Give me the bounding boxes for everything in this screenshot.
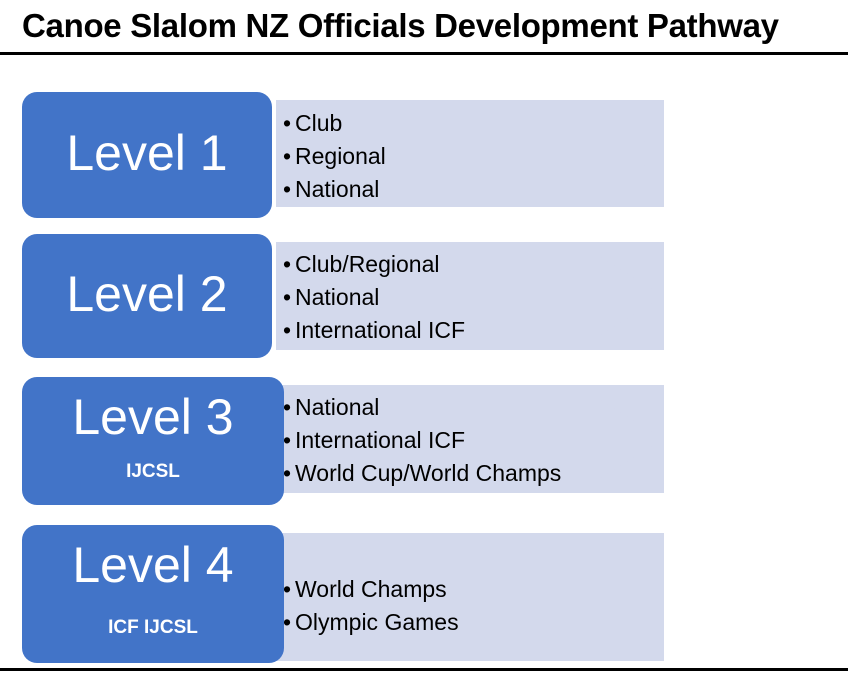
list-item: •International ICF — [283, 424, 561, 457]
list-item: •National — [283, 391, 561, 424]
bullet-icon: • — [283, 107, 295, 140]
bullet-label: International ICF — [295, 427, 465, 453]
bullet-label: Olympic Games — [295, 609, 459, 635]
list-item: •International ICF — [283, 314, 465, 347]
bullet-label: Club — [295, 110, 342, 136]
bullet-icon: • — [283, 424, 295, 457]
bullet-list-1: •Club •Regional •National — [283, 107, 386, 206]
arrow-head-2 — [598, 242, 664, 350]
arrow-head-3 — [598, 385, 664, 493]
list-item: •National — [283, 173, 386, 206]
title-bar: Canoe Slalom NZ Officials Development Pa… — [0, 0, 848, 55]
level-box-1-label: Level 1 — [22, 125, 272, 181]
level-box-3[interactable]: Level 3 IJCSL — [22, 377, 284, 505]
bottom-rule — [0, 668, 848, 671]
level-box-2-label: Level 2 — [22, 266, 272, 322]
bullet-icon: • — [283, 248, 295, 281]
bullet-label: National — [295, 284, 379, 310]
level-box-4-subtitle: ICF IJCSL — [22, 617, 284, 639]
bullet-icon: • — [283, 573, 295, 606]
arrow-head-1 — [598, 100, 664, 207]
bullet-label: International ICF — [295, 317, 465, 343]
level-box-4-label: Level 4 — [22, 537, 284, 593]
bullet-label: National — [295, 394, 379, 420]
bullet-label: Regional — [295, 143, 386, 169]
arrow-head-4 — [598, 533, 664, 661]
list-item: •Olympic Games — [283, 606, 459, 639]
level-box-4[interactable]: Level 4 ICF IJCSL — [22, 525, 284, 663]
bullet-icon: • — [283, 457, 295, 490]
list-item: •Club/Regional — [283, 248, 465, 281]
level-box-3-label: Level 3 — [22, 389, 284, 445]
page-title: Canoe Slalom NZ Officials Development Pa… — [22, 4, 832, 48]
list-item: •Regional — [283, 140, 386, 173]
level-box-1[interactable]: Level 1 — [22, 92, 272, 218]
bullet-label: World Cup/World Champs — [295, 460, 561, 486]
bullet-list-2: •Club/Regional •National •International … — [283, 248, 465, 347]
bullet-icon: • — [283, 314, 295, 347]
bullet-icon: • — [283, 391, 295, 424]
list-item: •World Cup/World Champs — [283, 457, 561, 490]
level-box-2[interactable]: Level 2 — [22, 234, 272, 358]
list-item: •World Champs — [283, 573, 459, 606]
bullet-label: World Champs — [295, 576, 447, 602]
list-item: •National — [283, 281, 465, 314]
bullet-icon: • — [283, 606, 295, 639]
list-item: •Club — [283, 107, 386, 140]
bullet-label: Club/Regional — [295, 251, 439, 277]
level-box-3-subtitle: IJCSL — [22, 461, 284, 483]
pathway-diagram: Canoe Slalom NZ Officials Development Pa… — [0, 0, 848, 677]
bullet-list-3: •National •International ICF •World Cup/… — [283, 391, 561, 490]
bullet-list-4: •World Champs •Olympic Games — [283, 573, 459, 639]
bullet-icon: • — [283, 140, 295, 173]
bullet-icon: • — [283, 281, 295, 314]
bullet-label: National — [295, 176, 379, 202]
bullet-icon: • — [283, 173, 295, 206]
